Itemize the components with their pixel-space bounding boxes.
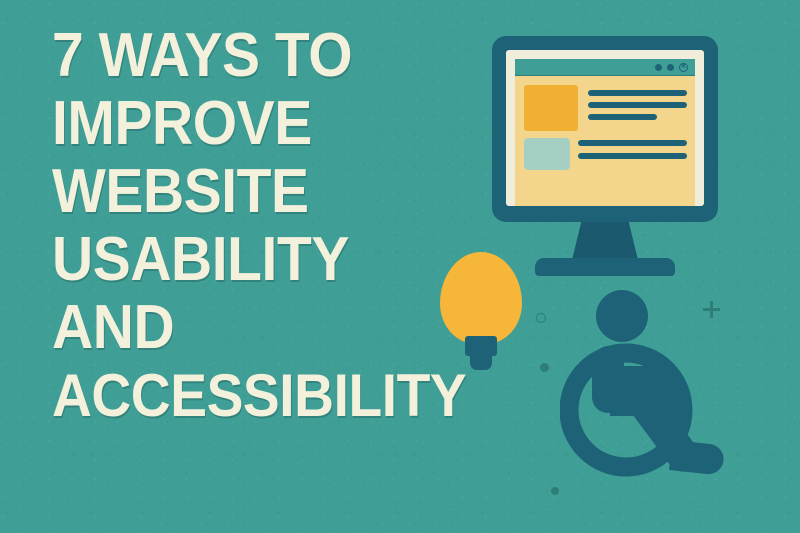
headline-line-2: IMPROVE — [52, 90, 484, 158]
deco-ring-small-icon — [536, 313, 546, 323]
browser-titlebar — [515, 59, 695, 76]
content-row-top — [524, 85, 687, 131]
wheelchair-accessibility-icon — [560, 288, 750, 488]
browser-window — [515, 59, 695, 206]
text-lines-bottom — [578, 138, 687, 170]
desktop-monitor-icon — [492, 36, 718, 280]
text-bar — [588, 90, 687, 96]
monitor-base — [535, 258, 675, 276]
deco-dot-upper-icon — [540, 363, 549, 372]
monitor-screen — [506, 50, 704, 206]
headline-line-3: WEBSITE — [52, 158, 484, 226]
headline-line-6: ACCESSIBILITY — [52, 362, 484, 430]
content-row-bottom — [524, 138, 687, 170]
page-title: 7 WAYS TO IMPROVE WEBSITE USABILITY AND … — [52, 22, 522, 430]
text-lines-top — [588, 85, 687, 131]
text-bar — [578, 140, 687, 146]
text-bar — [588, 114, 657, 120]
monitor-frame — [492, 36, 718, 222]
secondary-thumbnail — [524, 138, 570, 170]
deco-dot-lower-icon — [551, 487, 559, 495]
window-dot-maximize-icon — [667, 64, 674, 71]
text-bar — [588, 102, 687, 108]
monitor-neck — [572, 222, 638, 260]
headline-line-4: USABILITY — [52, 226, 484, 294]
browser-content — [515, 76, 695, 170]
text-bar — [578, 153, 687, 159]
headline-line-5: AND — [52, 294, 484, 362]
window-close-icon — [679, 63, 688, 72]
poster-canvas: 7 WAYS TO IMPROVE WEBSITE USABILITY AND … — [0, 0, 800, 533]
hero-thumbnail — [524, 85, 578, 131]
window-dot-minimize-icon — [655, 64, 662, 71]
headline-line-1: 7 WAYS TO — [52, 22, 484, 90]
